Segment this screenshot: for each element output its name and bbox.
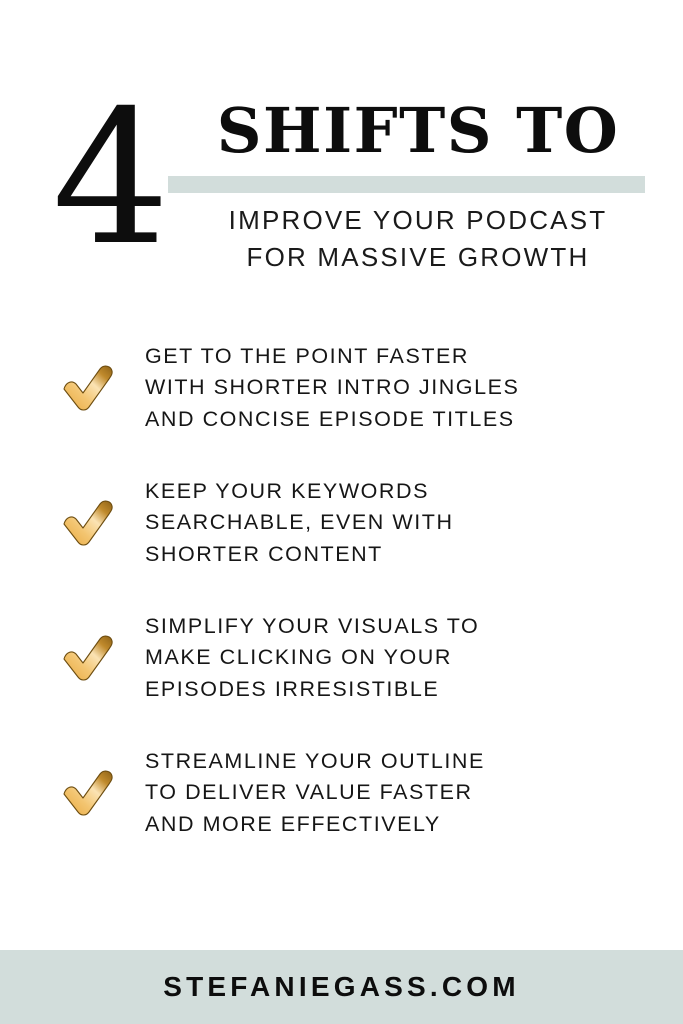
subtitle: IMPROVE YOUR PODCAST FOR MASSIVE GROWTH bbox=[168, 202, 668, 276]
list-item: SIMPLIFY YOUR VISUALS TO MAKE CLICKING O… bbox=[0, 610, 683, 706]
footer-bar: STEFANIEGASS.COM bbox=[0, 950, 683, 1024]
subtitle-line-2: FOR MASSIVE GROWTH bbox=[168, 239, 668, 276]
check-mark-icon bbox=[52, 362, 124, 414]
check-mark-icon bbox=[52, 767, 124, 819]
list-item-label: STREAMLINE YOUR OUTLINE TO DELIVER VALUE… bbox=[124, 746, 683, 841]
list-item-label: GET TO THE POINT FASTER WITH SHORTER INT… bbox=[124, 341, 683, 436]
check-mark-icon bbox=[52, 497, 124, 549]
list-item: KEEP YOUR KEYWORDS SEARCHABLE, EVEN WITH… bbox=[0, 475, 683, 571]
list-item-label: SIMPLIFY YOUR VISUALS TO MAKE CLICKING O… bbox=[124, 611, 683, 706]
accent-divider-bar bbox=[168, 176, 645, 193]
list-item-label: KEEP YOUR KEYWORDS SEARCHABLE, EVEN WITH… bbox=[124, 476, 683, 571]
list-item: GET TO THE POINT FASTER WITH SHORTER INT… bbox=[0, 340, 683, 436]
tips-list: GET TO THE POINT FASTER WITH SHORTER INT… bbox=[0, 340, 683, 880]
headline-number: 4 bbox=[40, 86, 180, 271]
list-item: STREAMLINE YOUR OUTLINE TO DELIVER VALUE… bbox=[0, 745, 683, 841]
website-url[interactable]: STEFANIEGASS.COM bbox=[163, 971, 520, 1003]
pinterest-graphic: 4 SHIFTS TO IMPROVE YOUR PODCAST FOR MAS… bbox=[0, 0, 683, 1024]
subtitle-line-1: IMPROVE YOUR PODCAST bbox=[168, 202, 668, 239]
check-mark-icon bbox=[52, 632, 124, 684]
header: 4 SHIFTS TO IMPROVE YOUR PODCAST FOR MAS… bbox=[0, 0, 683, 300]
page-title: SHIFTS TO bbox=[168, 97, 668, 165]
